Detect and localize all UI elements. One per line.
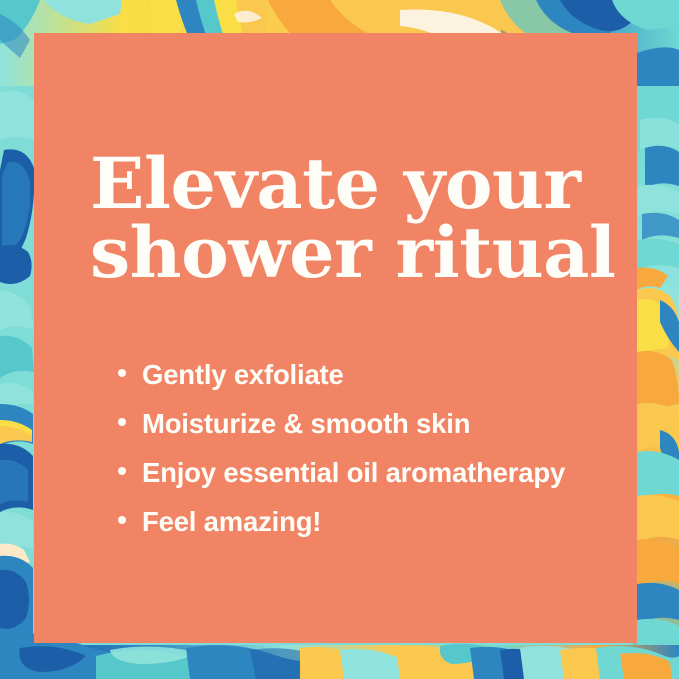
coral-content-panel: Elevate your shower ritual Gently exfoli… <box>34 33 637 643</box>
list-item: Feel amazing! <box>118 508 658 536</box>
benefit-label: Feel amazing! <box>142 508 321 536</box>
benefit-label: Gently exfoliate <box>142 361 344 389</box>
bullet-dot-icon <box>118 369 126 377</box>
page-title: Elevate your shower ritual <box>90 150 630 287</box>
list-item: Enjoy essential oil aromatherapy <box>118 459 658 487</box>
benefit-label: Enjoy essential oil aromatherapy <box>142 459 565 487</box>
benefit-label: Moisturize & smooth skin <box>142 410 470 438</box>
list-item: Moisturize & smooth skin <box>118 410 658 438</box>
product-benefits-poster: Elevate your shower ritual Gently exfoli… <box>0 0 679 679</box>
headline-line-1: Elevate your <box>90 150 641 219</box>
headline-line-2: shower ritual <box>90 219 641 288</box>
benefits-list: Gently exfoliate Moisturize & smooth ski… <box>118 361 658 536</box>
bullet-dot-icon <box>118 418 126 426</box>
list-item: Gently exfoliate <box>118 361 658 389</box>
bullet-dot-icon <box>118 467 126 475</box>
bullet-dot-icon <box>118 516 126 524</box>
